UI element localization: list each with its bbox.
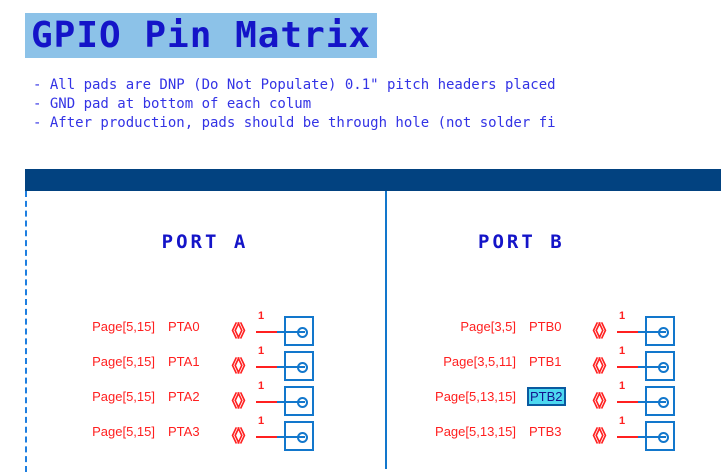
offpage-connector-icon[interactable]: 《》 <box>223 387 251 412</box>
pin-number: 1 <box>619 345 625 357</box>
pin-number: 1 <box>619 380 625 392</box>
wire-segment-red <box>617 366 639 368</box>
page-reference: Page[3,5,11] <box>388 354 516 369</box>
pin-row[interactable]: Page[5,15] PTA2 《》 1 <box>27 386 383 421</box>
wire-segment-red <box>617 436 639 438</box>
wire-segment-red <box>256 331 278 333</box>
pin-row[interactable]: Page[5,15] PTA1 《》 1 <box>27 351 383 386</box>
pin-row[interactable]: Page[5,13,15] PTB2 《》 1 <box>388 386 721 421</box>
page-reference: Page[5,13,15] <box>388 389 516 404</box>
pin-number: 1 <box>258 415 264 427</box>
offpage-connector-icon[interactable]: 《》 <box>584 387 612 412</box>
pad-footprint[interactable] <box>284 421 314 451</box>
pad-hole-icon <box>658 327 669 338</box>
pad-footprint[interactable] <box>645 351 675 381</box>
pad-footprint[interactable] <box>645 421 675 451</box>
page-reference: Page[5,15] <box>27 424 155 439</box>
offpage-connector-icon[interactable]: 《》 <box>223 352 251 377</box>
wire-segment-red <box>617 401 639 403</box>
wire-segment-red <box>256 366 278 368</box>
port-b-title: PORT B <box>388 231 721 253</box>
wire-segment-red <box>617 331 639 333</box>
page-reference: Page[5,15] <box>27 319 155 334</box>
note-line-1: - All pads are DNP (Do Not Populate) 0.1… <box>33 76 721 95</box>
pad-hole-icon <box>658 397 669 408</box>
pin-number: 1 <box>258 345 264 357</box>
port-b-pin-list: Page[3,5] PTB0 《》 1 Page[3,5,11] PTB1 《》… <box>388 316 721 456</box>
net-label-pta3[interactable]: PTA3 <box>168 424 200 439</box>
pin-number: 1 <box>258 310 264 322</box>
offpage-connector-icon[interactable]: 《》 <box>584 317 612 342</box>
pad-hole-icon <box>658 362 669 373</box>
pad-hole-icon <box>297 397 308 408</box>
net-label-ptb2[interactable]: PTB2 <box>529 389 564 404</box>
page-title: GPIO Pin Matrix <box>25 13 377 58</box>
notes-block: - All pads are DNP (Do Not Populate) 0.1… <box>33 76 721 133</box>
pad-hole-icon <box>297 327 308 338</box>
pad-footprint[interactable] <box>284 351 314 381</box>
pin-row[interactable]: Page[3,5] PTB0 《》 1 <box>388 316 721 351</box>
port-a-title: PORT A <box>27 231 383 253</box>
page-reference: Page[3,5] <box>388 319 516 334</box>
pad-footprint[interactable] <box>284 386 314 416</box>
offpage-connector-icon[interactable]: 《》 <box>584 352 612 377</box>
net-label-ptb3[interactable]: PTB3 <box>529 424 562 439</box>
note-line-2: - GND pad at bottom of each colum <box>33 95 721 114</box>
page-reference: Page[5,15] <box>27 354 155 369</box>
pad-hole-icon <box>297 362 308 373</box>
pin-row[interactable]: Page[5,15] PTA3 《》 1 <box>27 421 383 456</box>
net-label-ptb0[interactable]: PTB0 <box>529 319 562 334</box>
pin-number: 1 <box>619 310 625 322</box>
net-label-pta1[interactable]: PTA1 <box>168 354 200 369</box>
pad-footprint[interactable] <box>645 386 675 416</box>
page-reference: Page[5,15] <box>27 389 155 404</box>
pad-hole-icon <box>658 432 669 443</box>
offpage-connector-icon[interactable]: 《》 <box>584 422 612 447</box>
pin-row[interactable]: Page[5,13,15] PTB3 《》 1 <box>388 421 721 456</box>
page-reference: Page[5,13,15] <box>388 424 516 439</box>
net-label-ptb1[interactable]: PTB1 <box>529 354 562 369</box>
header-band <box>25 169 721 191</box>
pin-number: 1 <box>619 415 625 427</box>
pin-row[interactable]: Page[5,15] PTA0 《》 1 <box>27 316 383 351</box>
wire-segment-red <box>256 401 278 403</box>
net-label-pta2[interactable]: PTA2 <box>168 389 200 404</box>
port-divider <box>385 191 387 469</box>
note-line-3: - After production, pads should be throu… <box>33 114 721 133</box>
pin-number: 1 <box>258 380 264 392</box>
pin-row[interactable]: Page[3,5,11] PTB1 《》 1 <box>388 351 721 386</box>
offpage-connector-icon[interactable]: 《》 <box>223 317 251 342</box>
pad-footprint[interactable] <box>284 316 314 346</box>
net-label-pta0[interactable]: PTA0 <box>168 319 200 334</box>
pad-footprint[interactable] <box>645 316 675 346</box>
port-a-pin-list: Page[5,15] PTA0 《》 1 Page[5,15] PTA1 《》 … <box>27 316 383 456</box>
pad-hole-icon <box>297 432 308 443</box>
offpage-connector-icon[interactable]: 《》 <box>223 422 251 447</box>
wire-segment-red <box>256 436 278 438</box>
